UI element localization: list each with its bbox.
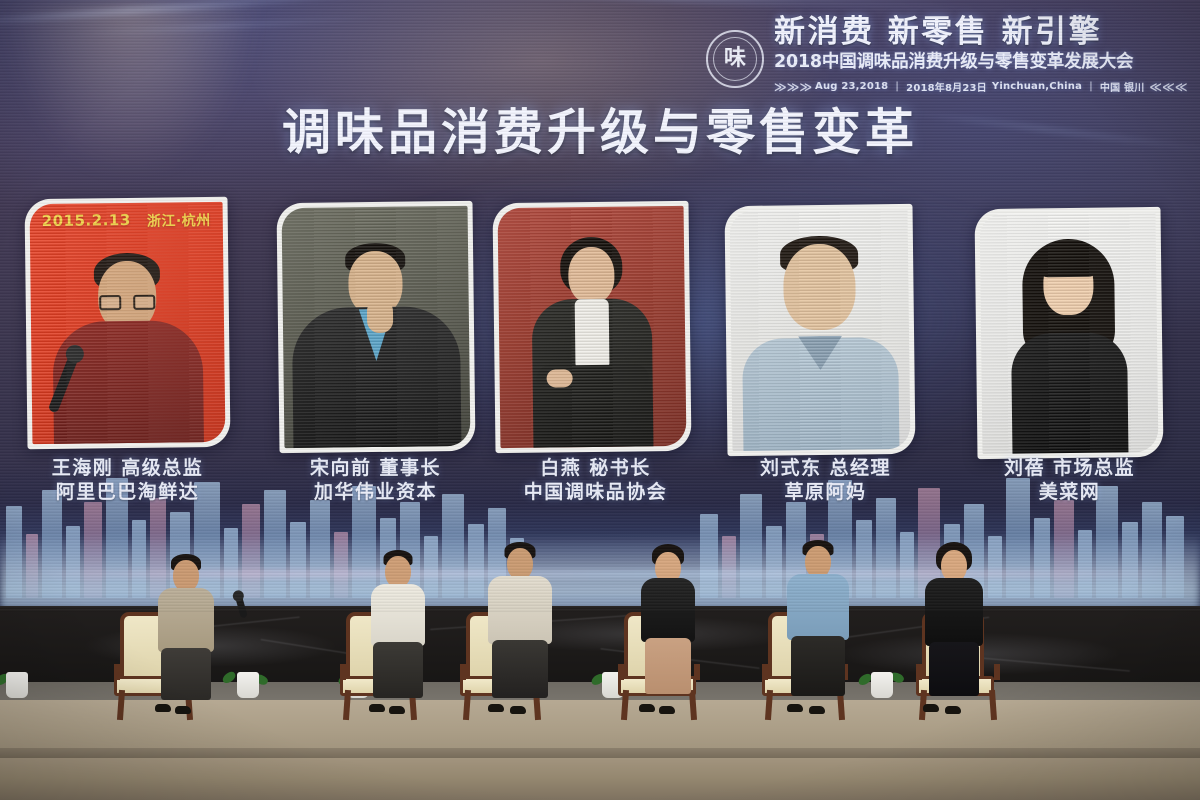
speaker-portrait-card (974, 207, 1163, 459)
speaker-name-title: 白燕 秘书长 (488, 456, 703, 480)
meta-separator: | (893, 81, 901, 92)
speaker-label: 刘蓓 市场总监 美菜网 (962, 456, 1177, 505)
chevrons-left-icon: ≫ ≫ ≫ (774, 80, 810, 94)
person-figure (921, 542, 987, 710)
panelist-seat-2 (338, 548, 442, 720)
stage-riser-front-face (0, 758, 1200, 800)
speaker-name-title: 刘式东 总经理 (718, 456, 933, 480)
speaker-portrait-card (492, 201, 691, 453)
speaker-organization: 草原阿妈 (718, 480, 933, 504)
portrait-image (498, 206, 687, 448)
portrait-banner-date: 2015.2.13 (42, 211, 131, 232)
person-figure (637, 544, 699, 710)
speaker-portrait-card: 2015.2.13 浙江·杭州 (24, 197, 230, 449)
chevrons-right-icon: ≪ ≪ ≪ (1149, 80, 1185, 94)
panelist-moderator (112, 552, 222, 720)
speaker-portrait-row: 2015.2.13 浙江·杭州 (0, 198, 1200, 453)
speaker-organization: 阿里巴巴淘鲜达 (20, 480, 235, 504)
event-date-cn: 2018年8月23日 (906, 79, 987, 94)
person-figure (484, 542, 556, 710)
light-streak (430, 0, 990, 14)
panelist-seat-5 (760, 538, 876, 720)
event-city-cn: 中国 银川 (1100, 79, 1144, 94)
meta-separator: | (1087, 81, 1095, 92)
led-backdrop-screen: 味 新消费 新零售 新引擎 2018中国调味品消费升级与零售变革发展大会 ≫ ≫… (0, 0, 1200, 612)
event-headline: 新消费 新零售 新引擎 (774, 16, 1186, 49)
portrait-image (282, 206, 471, 448)
speaker-label: 白燕 秘书长 中国调味品协会 (488, 456, 703, 505)
person-figure (153, 554, 219, 710)
speaker-portrait-card (724, 204, 915, 456)
panelist-seat-6 (900, 538, 1016, 720)
person-figure (367, 550, 429, 710)
speaker-label: 宋向前 董事长 加华伟业资本 (268, 456, 483, 505)
event-date-en: Aug 23,2018 (815, 81, 888, 92)
speaker-name-title: 王海刚 高级总监 (20, 456, 235, 480)
seal-glyph: 味 (706, 30, 764, 88)
speaker-name-title: 宋向前 董事长 (268, 456, 483, 480)
conference-stage-photo: 味 新消费 新零售 新引擎 2018中国调味品消费升级与零售变革发展大会 ≫ ≫… (0, 0, 1200, 800)
panelist-seat-3 (458, 540, 574, 720)
speaker-name-row: 王海刚 高级总监 阿里巴巴淘鲜达 宋向前 董事长 加华伟业资本 白燕 秘书长 中… (0, 456, 1200, 514)
event-subline: 2018中国调味品消费升级与零售变革发展大会 (774, 52, 1186, 74)
potted-plant (228, 620, 268, 698)
potted-plant (0, 622, 34, 698)
speaker-label: 王海刚 高级总监 阿里巴巴淘鲜达 (20, 456, 235, 505)
eyeglasses-icon (99, 295, 155, 311)
portrait-image (730, 209, 911, 451)
portrait-banner-location: 浙江·杭州 (147, 210, 211, 231)
forum-title: 调味品消费升级与零售变革 (0, 108, 1200, 157)
person-figure (783, 540, 853, 710)
speaker-name-title: 刘蓓 市场总监 (962, 456, 1177, 480)
speaker-organization: 中国调味品协会 (488, 480, 703, 504)
speaker-portrait-card (276, 201, 475, 453)
speaker-label: 刘式东 总经理 草原阿妈 (718, 456, 933, 505)
conference-seal-icon: 味 (706, 30, 764, 88)
panelist-seat-4 (616, 540, 722, 720)
event-meta-line: ≫ ≫ ≫ Aug 23,2018 | 2018年8月23日 Yinchuan,… (774, 79, 1186, 94)
portrait-banner: 2015.2.13 浙江·杭州 (30, 210, 223, 232)
speaker-organization: 美菜网 (962, 480, 1177, 504)
portrait-image (980, 212, 1159, 454)
speaker-organization: 加华伟业资本 (268, 480, 483, 504)
event-city-en: Yinchuan,China (992, 81, 1082, 92)
event-brand-block: 味 新消费 新零售 新引擎 2018中国调味品消费升级与零售变革发展大会 ≫ ≫… (706, 16, 1186, 94)
portrait-image: 2015.2.13 浙江·杭州 (30, 202, 226, 444)
